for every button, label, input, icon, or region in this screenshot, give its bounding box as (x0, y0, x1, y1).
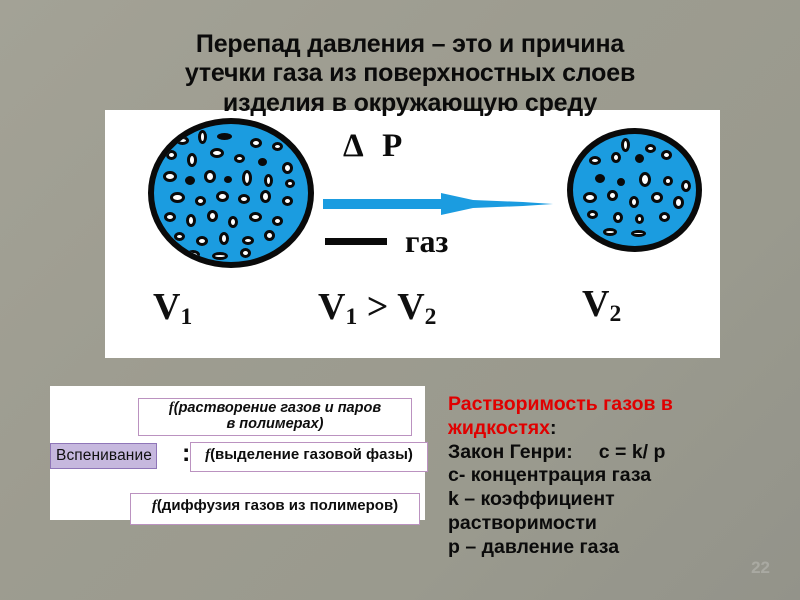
gas-legend-line-icon (325, 238, 387, 245)
gas-bubble (681, 180, 691, 192)
volume-comparison-label: V1 > V2 (318, 285, 436, 329)
foaming-formula-panel: Вспенивание : f(растворение газов и паро… (50, 386, 425, 520)
gas-bubble (258, 158, 267, 166)
henry-law-text-block: Растворимость газов в жидкостях: Закон Г… (448, 393, 788, 559)
gas-bubble (613, 212, 623, 223)
gas-bubble (242, 170, 252, 186)
gas-bubble (603, 228, 617, 236)
formula-box-diffusion-text: (диффузия газов из полимеров) (157, 497, 398, 514)
gas-filled-disc-v1 (148, 118, 314, 268)
gas-bubble (174, 232, 185, 241)
volume-label-v1: V1 (153, 285, 192, 329)
gas-bubble (583, 192, 597, 203)
gas-bubble (264, 174, 273, 187)
gas-bubble (611, 152, 621, 163)
henry-definition-c: с- концентрация газа (448, 464, 788, 488)
henry-heading-colon: : (550, 417, 557, 439)
gas-bubble (645, 144, 656, 153)
gas-bubble (249, 212, 262, 222)
gas-bubble (285, 179, 295, 188)
gas-bubble (166, 150, 177, 160)
gas-bubble (639, 172, 651, 187)
gas-bubble (659, 212, 670, 222)
henry-law-formula: c = k/ p (599, 441, 666, 463)
volume-label-v2: V2 (582, 282, 621, 326)
gas-bubble (651, 192, 663, 203)
foaming-term-label: Вспенивание (50, 443, 157, 469)
gas-bubble (264, 230, 275, 241)
gas-bubble (663, 176, 673, 186)
gas-bubble (595, 174, 605, 183)
gas-filled-disc-v2 (567, 128, 702, 252)
henry-definition-p: р – давление газа (448, 536, 788, 560)
gas-bubble (272, 142, 283, 151)
pressure-diagram-panel: Δ P газ V1 V1 > V2 V2 (105, 110, 720, 358)
gas-bubble (186, 214, 196, 227)
gas-bubble (635, 214, 644, 224)
henry-law-line: Закон Генри:c = k/ p (448, 441, 788, 465)
gas-bubble (228, 216, 238, 228)
formula-box-gas-phase-text: (выделение газовой фазы) (210, 446, 413, 463)
formula-box-diffusion: f(диффузия газов из полимеров) (130, 493, 420, 525)
gas-bubble (607, 190, 618, 201)
formula-box-gas-phase: f(выделение газовой фазы) (190, 442, 428, 472)
gas-legend-label: газ (405, 223, 448, 260)
gas-bubble (176, 136, 189, 145)
henry-law-label: Закон Генри: (448, 441, 573, 463)
gas-bubble (217, 133, 232, 140)
henry-definition-k: k – коэффициент (448, 488, 788, 512)
gas-bubble (250, 138, 262, 148)
gas-bubble (224, 176, 232, 183)
gas-bubble (234, 154, 245, 163)
henry-heading-line1: Растворимость газов в (448, 393, 788, 417)
gas-bubble (186, 250, 200, 259)
gas-bubble (617, 178, 625, 186)
gas-bubble (661, 150, 672, 160)
gas-bubble (282, 196, 293, 206)
gas-bubble (212, 252, 228, 260)
formula-box-dissolution: f(растворение газов и паров в полимерах) (138, 398, 412, 436)
gas-bubble (195, 196, 206, 206)
gas-bubble (240, 248, 251, 258)
gas-bubble (219, 232, 229, 245)
gas-bubble (673, 196, 684, 209)
gas-bubble (198, 130, 207, 144)
gas-bubble (210, 148, 224, 158)
gas-bubble (238, 194, 250, 204)
gas-bubble (631, 230, 646, 237)
gas-bubble (204, 170, 216, 183)
gas-bubble (187, 153, 197, 167)
gas-flow-arrow-icon (323, 193, 553, 215)
gas-bubble (196, 236, 208, 246)
formula-box-dissolution-text: (растворение газов и паров в полимерах) (174, 400, 381, 432)
gas-bubble (185, 176, 195, 185)
gas-bubble (207, 210, 218, 222)
gas-bubble (629, 196, 639, 208)
gas-bubble (242, 236, 254, 245)
gas-bubble (164, 212, 176, 222)
gas-bubble (272, 216, 283, 226)
henry-heading-line2: жидкостях: (448, 417, 788, 441)
gas-bubble (163, 171, 177, 182)
page-number: 22 (751, 558, 770, 578)
henry-definition-k-cont: растворимости (448, 512, 788, 536)
gas-bubble (621, 138, 630, 152)
slide-title: Перепад давления – это и причина утечки … (100, 30, 720, 118)
gas-bubble (589, 156, 601, 165)
gas-bubble (587, 210, 598, 219)
delta-pressure-label: Δ P (343, 128, 408, 165)
gas-bubble (216, 191, 229, 202)
gas-bubble (260, 190, 271, 203)
gas-bubble (170, 192, 185, 203)
gas-bubble (282, 162, 293, 174)
gas-bubble (635, 154, 644, 163)
